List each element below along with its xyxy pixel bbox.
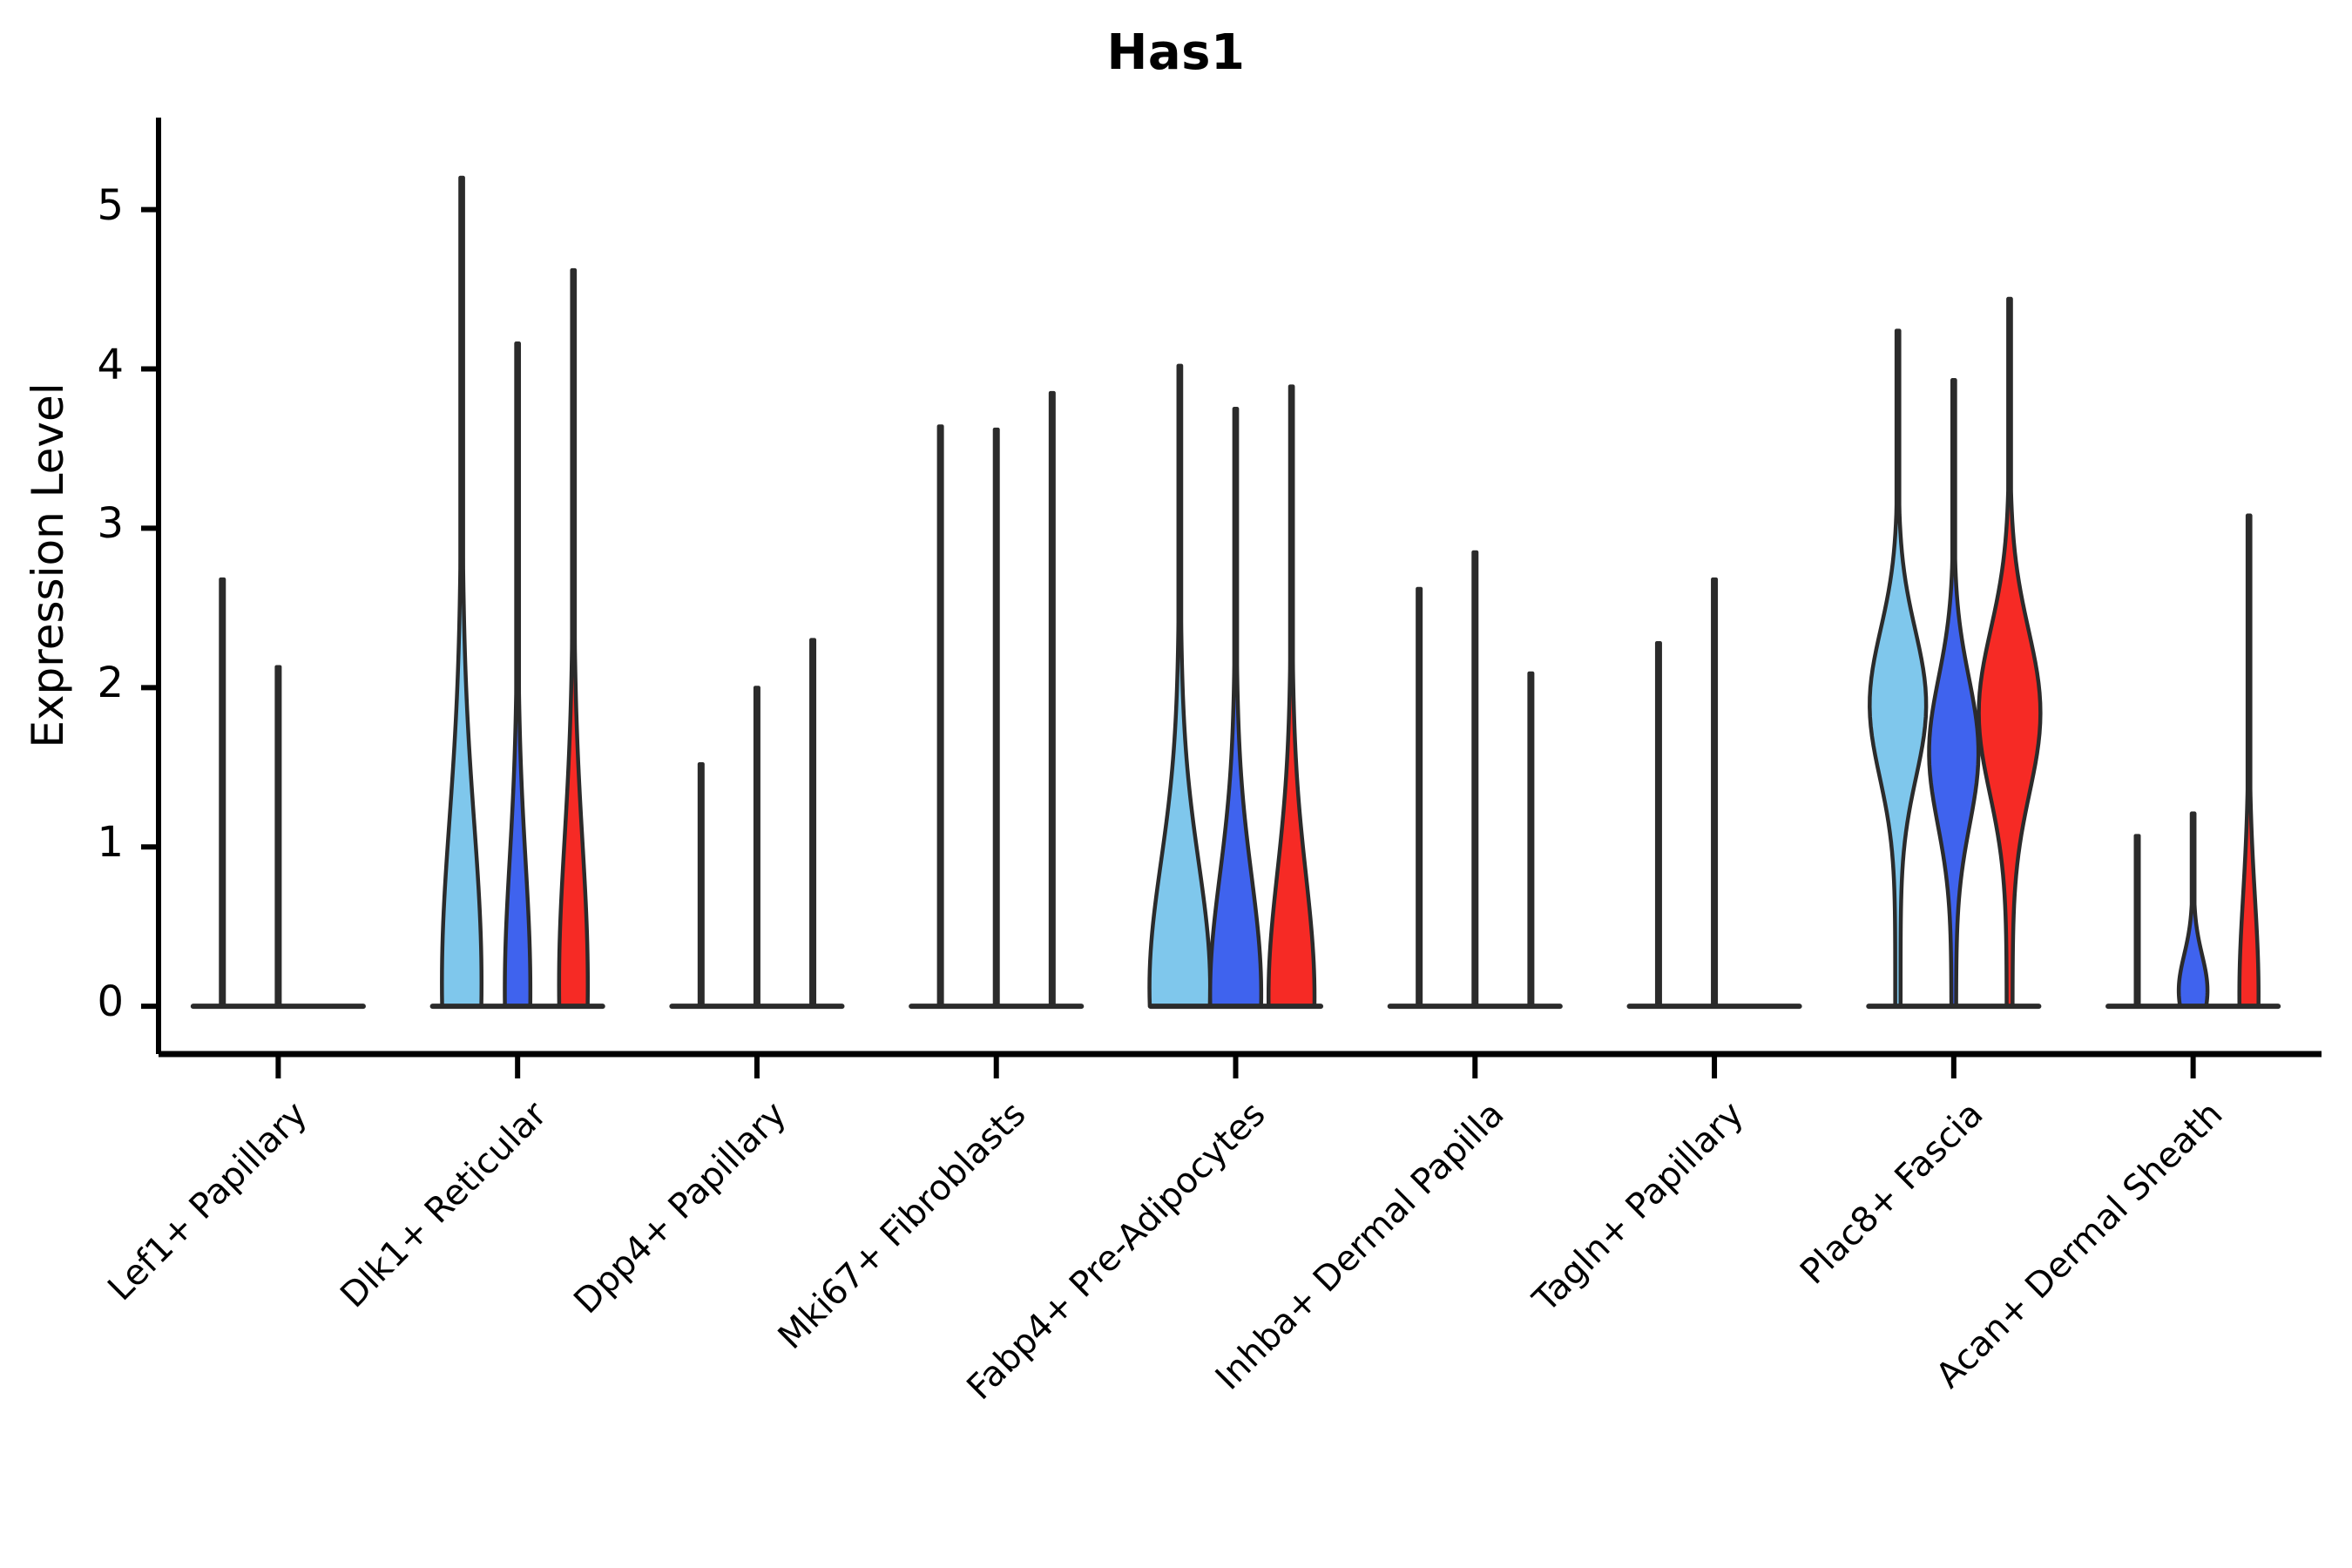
violin-shape [559, 270, 588, 1006]
y-tick-label: 0 [63, 977, 124, 1026]
violin-shape [220, 579, 224, 1006]
violin-shape [755, 687, 759, 1006]
violin-shape [811, 639, 814, 1006]
violin-shape [1210, 409, 1261, 1006]
y-tick-label: 5 [63, 181, 124, 230]
y-tick-label: 3 [63, 499, 124, 548]
violin-shape [1417, 589, 1421, 1006]
violin-shape [1051, 393, 1054, 1006]
violin-shape [2136, 835, 2139, 1006]
violin-shape [1930, 380, 1979, 1006]
violin-shape [1529, 673, 1532, 1006]
violin-shape [442, 178, 481, 1006]
violin-plot-figure: Has1 Expression Level 012345 Lef1+ Papil… [0, 0, 2352, 1568]
violin-shape [1473, 552, 1477, 1006]
violin-shape [505, 343, 531, 1006]
violin-shape [1869, 331, 1926, 1007]
violin-shape [995, 429, 998, 1006]
violin-shape [1713, 579, 1716, 1006]
violin-shape [1268, 387, 1315, 1007]
violin-shape [1979, 299, 2041, 1006]
violin-shape [276, 667, 280, 1007]
violin-shape [2179, 814, 2207, 1006]
y-tick-label: 1 [63, 818, 124, 867]
violin-shape [700, 764, 703, 1006]
violin-shape [939, 426, 943, 1006]
violin-shape [1150, 366, 1211, 1006]
y-tick-label: 2 [63, 659, 124, 707]
violins-layer [193, 178, 2278, 1006]
violin-shape [2240, 516, 2259, 1006]
violin-shape [1657, 643, 1660, 1006]
y-tick-label: 4 [63, 341, 124, 389]
